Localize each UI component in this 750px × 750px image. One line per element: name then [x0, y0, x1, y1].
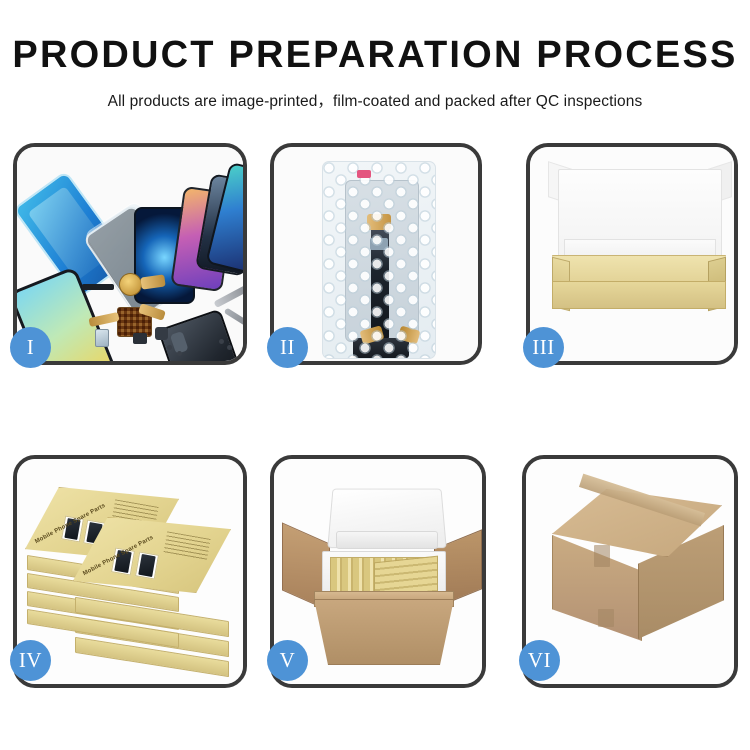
step-badge-2: II — [267, 327, 308, 368]
bubble-texture — [323, 162, 435, 358]
process-step-1 — [13, 143, 247, 365]
step-badge-3: III — [523, 327, 564, 368]
copper-coil-part — [119, 273, 142, 296]
tape-seam-lower — [598, 609, 614, 627]
process-step-3 — [526, 143, 738, 365]
step-badge-5: V — [267, 640, 308, 681]
battery-part — [95, 329, 109, 347]
earpiece-speaker-part — [82, 284, 114, 290]
process-step-2 — [270, 143, 482, 365]
camera-module-part — [133, 333, 147, 344]
yellow-tray-front — [552, 281, 726, 309]
step-3-image — [530, 147, 734, 361]
step-badge-4: IV — [10, 640, 51, 681]
process-step-grid: I II — [0, 0, 750, 750]
step-1-image — [17, 147, 243, 361]
step-badge-1: I — [10, 327, 51, 368]
step-badge-6: VI — [519, 640, 560, 681]
foam-lid-rim — [336, 531, 438, 549]
pink-seal-tab — [357, 170, 371, 178]
step-2-image — [274, 147, 478, 361]
vibrator-motor-part — [155, 327, 168, 340]
carton-front-panel — [314, 599, 454, 665]
box-stack: Mobile Phone Spare Parts Mobile Phone Sp… — [17, 459, 243, 684]
product-preparation-infographic: PRODUCT PREPARATION PROCESS All products… — [0, 0, 750, 750]
tape-seam-upper — [594, 545, 610, 567]
bubble-wrap-bag — [322, 161, 436, 359]
step-4-image: Mobile Phone Spare Parts Mobile Phone Sp… — [17, 459, 243, 684]
